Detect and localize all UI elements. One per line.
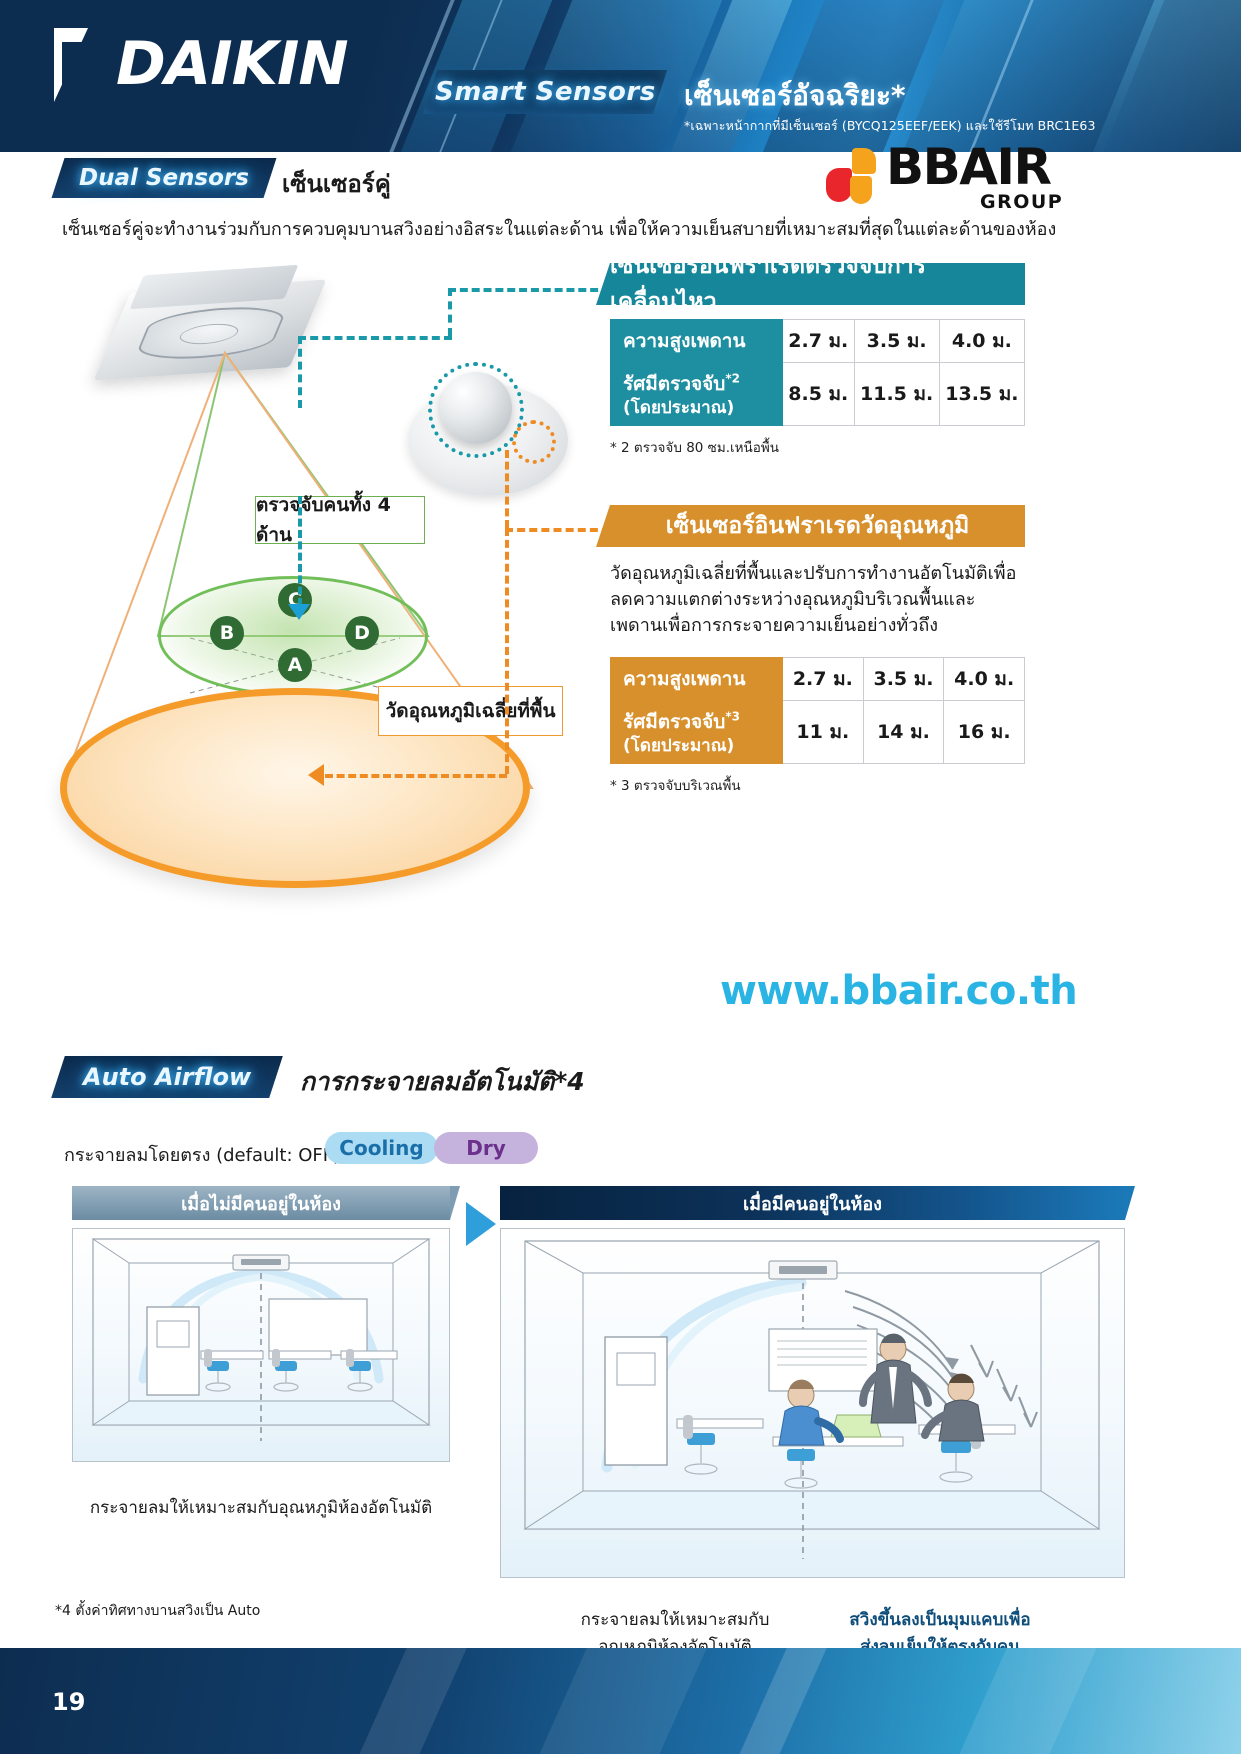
temperature-sensor-table: ความสูงเพดาน 2.7 ม. 3.5 ม. 4.0 ม. รัศมีต… bbox=[610, 657, 1025, 764]
motion-col-1: 2.7 ม. bbox=[783, 320, 855, 363]
footer-streak bbox=[344, 1648, 475, 1754]
panel-with-people: เมื่อมีคนอยู่ในห้อง bbox=[500, 1186, 1125, 1578]
temp-col-3: 4.0 ม. bbox=[944, 658, 1025, 701]
auto-airflow-badge: Auto Airflow bbox=[51, 1056, 283, 1098]
motion-sensor-title: เซ็นเซอร์อินฟราเรดตรวจจับการเคลื่อนไหว bbox=[610, 248, 1025, 320]
arrow-motion-down-icon bbox=[288, 604, 310, 620]
daikin-mark-icon bbox=[48, 26, 110, 102]
page-number: 19 bbox=[52, 1688, 85, 1716]
room-occupied-svg bbox=[501, 1229, 1124, 1578]
panel-no-people-header: เมื่อไม่มีคนอยู่ในห้อง bbox=[72, 1186, 450, 1220]
detection-point-a: A bbox=[278, 648, 312, 682]
arrow-temp-left-icon bbox=[308, 764, 324, 786]
detection-point-d: D bbox=[345, 616, 379, 650]
temp-radius-2: 14 ม. bbox=[863, 701, 944, 764]
dual-sensors-title-th: เซ็นเซอร์คู่ bbox=[282, 164, 391, 203]
brochure-page: DAIKIN Smart Sensors เซ็นเซอร์อัจฉริยะ* … bbox=[0, 0, 1241, 1754]
connector-temp-to-floor bbox=[325, 774, 507, 778]
auto-airflow-badge-label: Auto Airflow bbox=[83, 1063, 251, 1091]
callout-floor-temperature: วัดอุณหภูมิเฉลี่ยที่พื้น bbox=[378, 686, 563, 736]
bbair-logo: BBAIR GROUP bbox=[826, 146, 1066, 208]
direct-airflow-label: กระจายลมโดยตรง (default: OFF) bbox=[64, 1140, 340, 1169]
mode-pill-dry: Dry bbox=[434, 1132, 538, 1164]
table-row: ความสูงเพดาน 2.7 ม. 3.5 ม. 4.0 ม. bbox=[611, 320, 1025, 363]
mode-pill-cooling: Cooling bbox=[325, 1132, 438, 1164]
footer-streak bbox=[944, 1648, 1105, 1754]
room-empty-svg bbox=[73, 1229, 449, 1462]
bbair-shape-amber-icon bbox=[850, 176, 872, 204]
room-diagram-occupied bbox=[500, 1228, 1125, 1578]
table-row: ความสูงเพดาน 2.7 ม. 3.5 ม. 4.0 ม. bbox=[611, 658, 1025, 701]
bbair-shape-orange-icon bbox=[852, 148, 876, 174]
temp-radius-1: 11 ม. bbox=[783, 701, 864, 764]
motion-sensor-title-bar: เซ็นเซอร์อินฟราเรดตรวจจับการเคลื่อนไหว bbox=[610, 263, 1025, 305]
caption-auto-line1: กระจายลมให้เหมาะสมกับ bbox=[560, 1606, 790, 1633]
temp-row2-text: รัศมีตรวจจับ bbox=[623, 711, 725, 733]
temperature-sensor-title: เซ็นเซอร์อินฟราเรดวัดอุณหภูมิ bbox=[666, 508, 970, 544]
footer-streak bbox=[724, 1648, 835, 1754]
temp-row2-sup: *3 bbox=[725, 710, 740, 724]
temp-radius-3: 16 ม. bbox=[944, 701, 1025, 764]
temp-col-1: 2.7 ม. bbox=[783, 658, 864, 701]
auto-airflow-title-th: การกระจายลมอัตโนมัติ*4 bbox=[300, 1062, 585, 1102]
panel-no-people-caption: กระจายลมให้เหมาะสมกับอุณหภูมิห้องอัตโนมั… bbox=[72, 1494, 450, 1521]
connector-temp-horizontal bbox=[505, 528, 610, 532]
motion-row2-sup: *2 bbox=[725, 372, 740, 386]
temp-col-2: 3.5 ม. bbox=[863, 658, 944, 701]
motion-radius-1: 8.5 ม. bbox=[783, 363, 855, 426]
bbair-wordmark: BBAIR bbox=[886, 142, 1051, 192]
dual-sensor-illustration: C B D A ตรวจจับคนทั้ง 4 ด้าน วัดอุณหภูมิ… bbox=[40, 258, 600, 898]
dual-sensors-intro: เซ็นเซอร์คู่จะทำงานร่วมกับการควบคุมบานสว… bbox=[62, 214, 1122, 243]
dual-sensors-badge: Dual Sensors bbox=[52, 158, 277, 198]
motion-sensor-table: ความสูงเพดาน 2.7 ม. 3.5 ม. 4.0 ม. รัศมีต… bbox=[610, 319, 1025, 426]
smart-sensors-badge-label: Smart Sensors bbox=[435, 77, 656, 107]
motion-radius-2: 11.5 ม. bbox=[854, 363, 939, 426]
connector-motion-horizontal bbox=[448, 288, 610, 292]
daikin-wordmark: DAIKIN bbox=[116, 34, 348, 94]
motion-row2-label: รัศมีตรวจจับ*2 (โดยประมาณ) bbox=[611, 363, 783, 426]
motion-row1-label: ความสูงเพดาน bbox=[611, 320, 783, 363]
bbair-shape-red-icon bbox=[826, 168, 852, 202]
connector-motion-cross bbox=[298, 336, 452, 340]
table-row: รัศมีตรวจจับ*2 (โดยประมาณ) 8.5 ม. 11.5 ม… bbox=[611, 363, 1025, 426]
caption-swing-line1: สวิงขึ้นลงเป็นมุมแคบเพื่อ bbox=[815, 1606, 1065, 1633]
motion-radius-3: 13.5 ม. bbox=[939, 363, 1024, 426]
temperature-sensor-title-bar: เซ็นเซอร์อินฟราเรดวัดอุณหภูมิ bbox=[610, 505, 1025, 547]
bbair-group-label: GROUP bbox=[980, 191, 1063, 213]
page-header: DAIKIN Smart Sensors เซ็นเซอร์อัจฉริยะ* … bbox=[0, 0, 1241, 152]
daikin-logo: DAIKIN bbox=[48, 25, 388, 103]
smart-sensors-badge: Smart Sensors bbox=[423, 70, 667, 114]
panel-no-people: เมื่อไม่มีคนอยู่ในห้อง bbox=[72, 1186, 450, 1462]
motion-row2-text: รัศมีตรวจจับ bbox=[623, 373, 725, 395]
connector-temp-vertical bbox=[505, 450, 509, 528]
connector-motion-to-disc bbox=[298, 496, 302, 606]
temperature-sensor-description: วัดอุณหภูมิเฉลี่ยที่พื้นและปรับการทำงานอ… bbox=[610, 561, 1025, 639]
panel-with-people-header: เมื่อมีคนอยู่ในห้อง bbox=[500, 1186, 1125, 1220]
panel-with-people-title: เมื่อมีคนอยู่ในห้อง bbox=[743, 1189, 882, 1218]
motion-footnote: * 2 ตรวจจับ 80 ซม.เหนือพื้น bbox=[610, 436, 1025, 458]
motion-sensor-block: เซ็นเซอร์อินฟราเรดตรวจจับการเคลื่อนไหว ค… bbox=[610, 263, 1025, 458]
page-footer bbox=[0, 1648, 1241, 1754]
temperature-footnote: * 3 ตรวจจับบริเวณพื้น bbox=[610, 774, 1025, 796]
motion-col-2: 3.5 ม. bbox=[854, 320, 939, 363]
temperature-sensor-block: เซ็นเซอร์อินฟราเรดวัดอุณหภูมิ วัดอุณหภูม… bbox=[610, 505, 1025, 796]
smart-sensors-title-th: เซ็นเซอร์อัจฉริยะ* bbox=[684, 74, 906, 118]
smart-sensors-note: *เฉพาะหน้ากากที่มีเซ็นเซอร์ (BYCQ125EEF/… bbox=[684, 116, 1096, 136]
panel-no-people-title: เมื่อไม่มีคนอยู่ในห้อง bbox=[181, 1189, 341, 1218]
dual-sensors-badge-label: Dual Sensors bbox=[79, 165, 249, 191]
connector-temp-down bbox=[505, 528, 509, 774]
website-url[interactable]: www.bbair.co.th bbox=[720, 968, 1077, 1014]
room-diagram-empty bbox=[72, 1228, 450, 1462]
auto-airflow-footnote: *4 ตั้งค่าทิศทางบานสวิงเป็น Auto bbox=[55, 1600, 260, 1622]
callout-motion-detection: ตรวจจับคนทั้ง 4 ด้าน bbox=[255, 496, 425, 544]
detection-point-b: B bbox=[210, 616, 244, 650]
motion-row2-sub: (โดยประมาณ) bbox=[623, 399, 778, 419]
temp-row2-label: รัศมีตรวจจับ*3 (โดยประมาณ) bbox=[611, 701, 783, 764]
temp-row1-label: ความสูงเพดาน bbox=[611, 658, 783, 701]
connector-motion-vertical-up bbox=[448, 288, 452, 336]
temp-row2-sub: (โดยประมาณ) bbox=[623, 737, 778, 757]
flow-arrow-icon bbox=[466, 1202, 496, 1246]
connector-motion-down bbox=[298, 336, 302, 408]
table-row: รัศมีตรวจจับ*3 (โดยประมาณ) 11 ม. 14 ม. 1… bbox=[611, 701, 1025, 764]
footer-streak bbox=[524, 1648, 715, 1754]
motion-col-3: 4.0 ม. bbox=[939, 320, 1024, 363]
